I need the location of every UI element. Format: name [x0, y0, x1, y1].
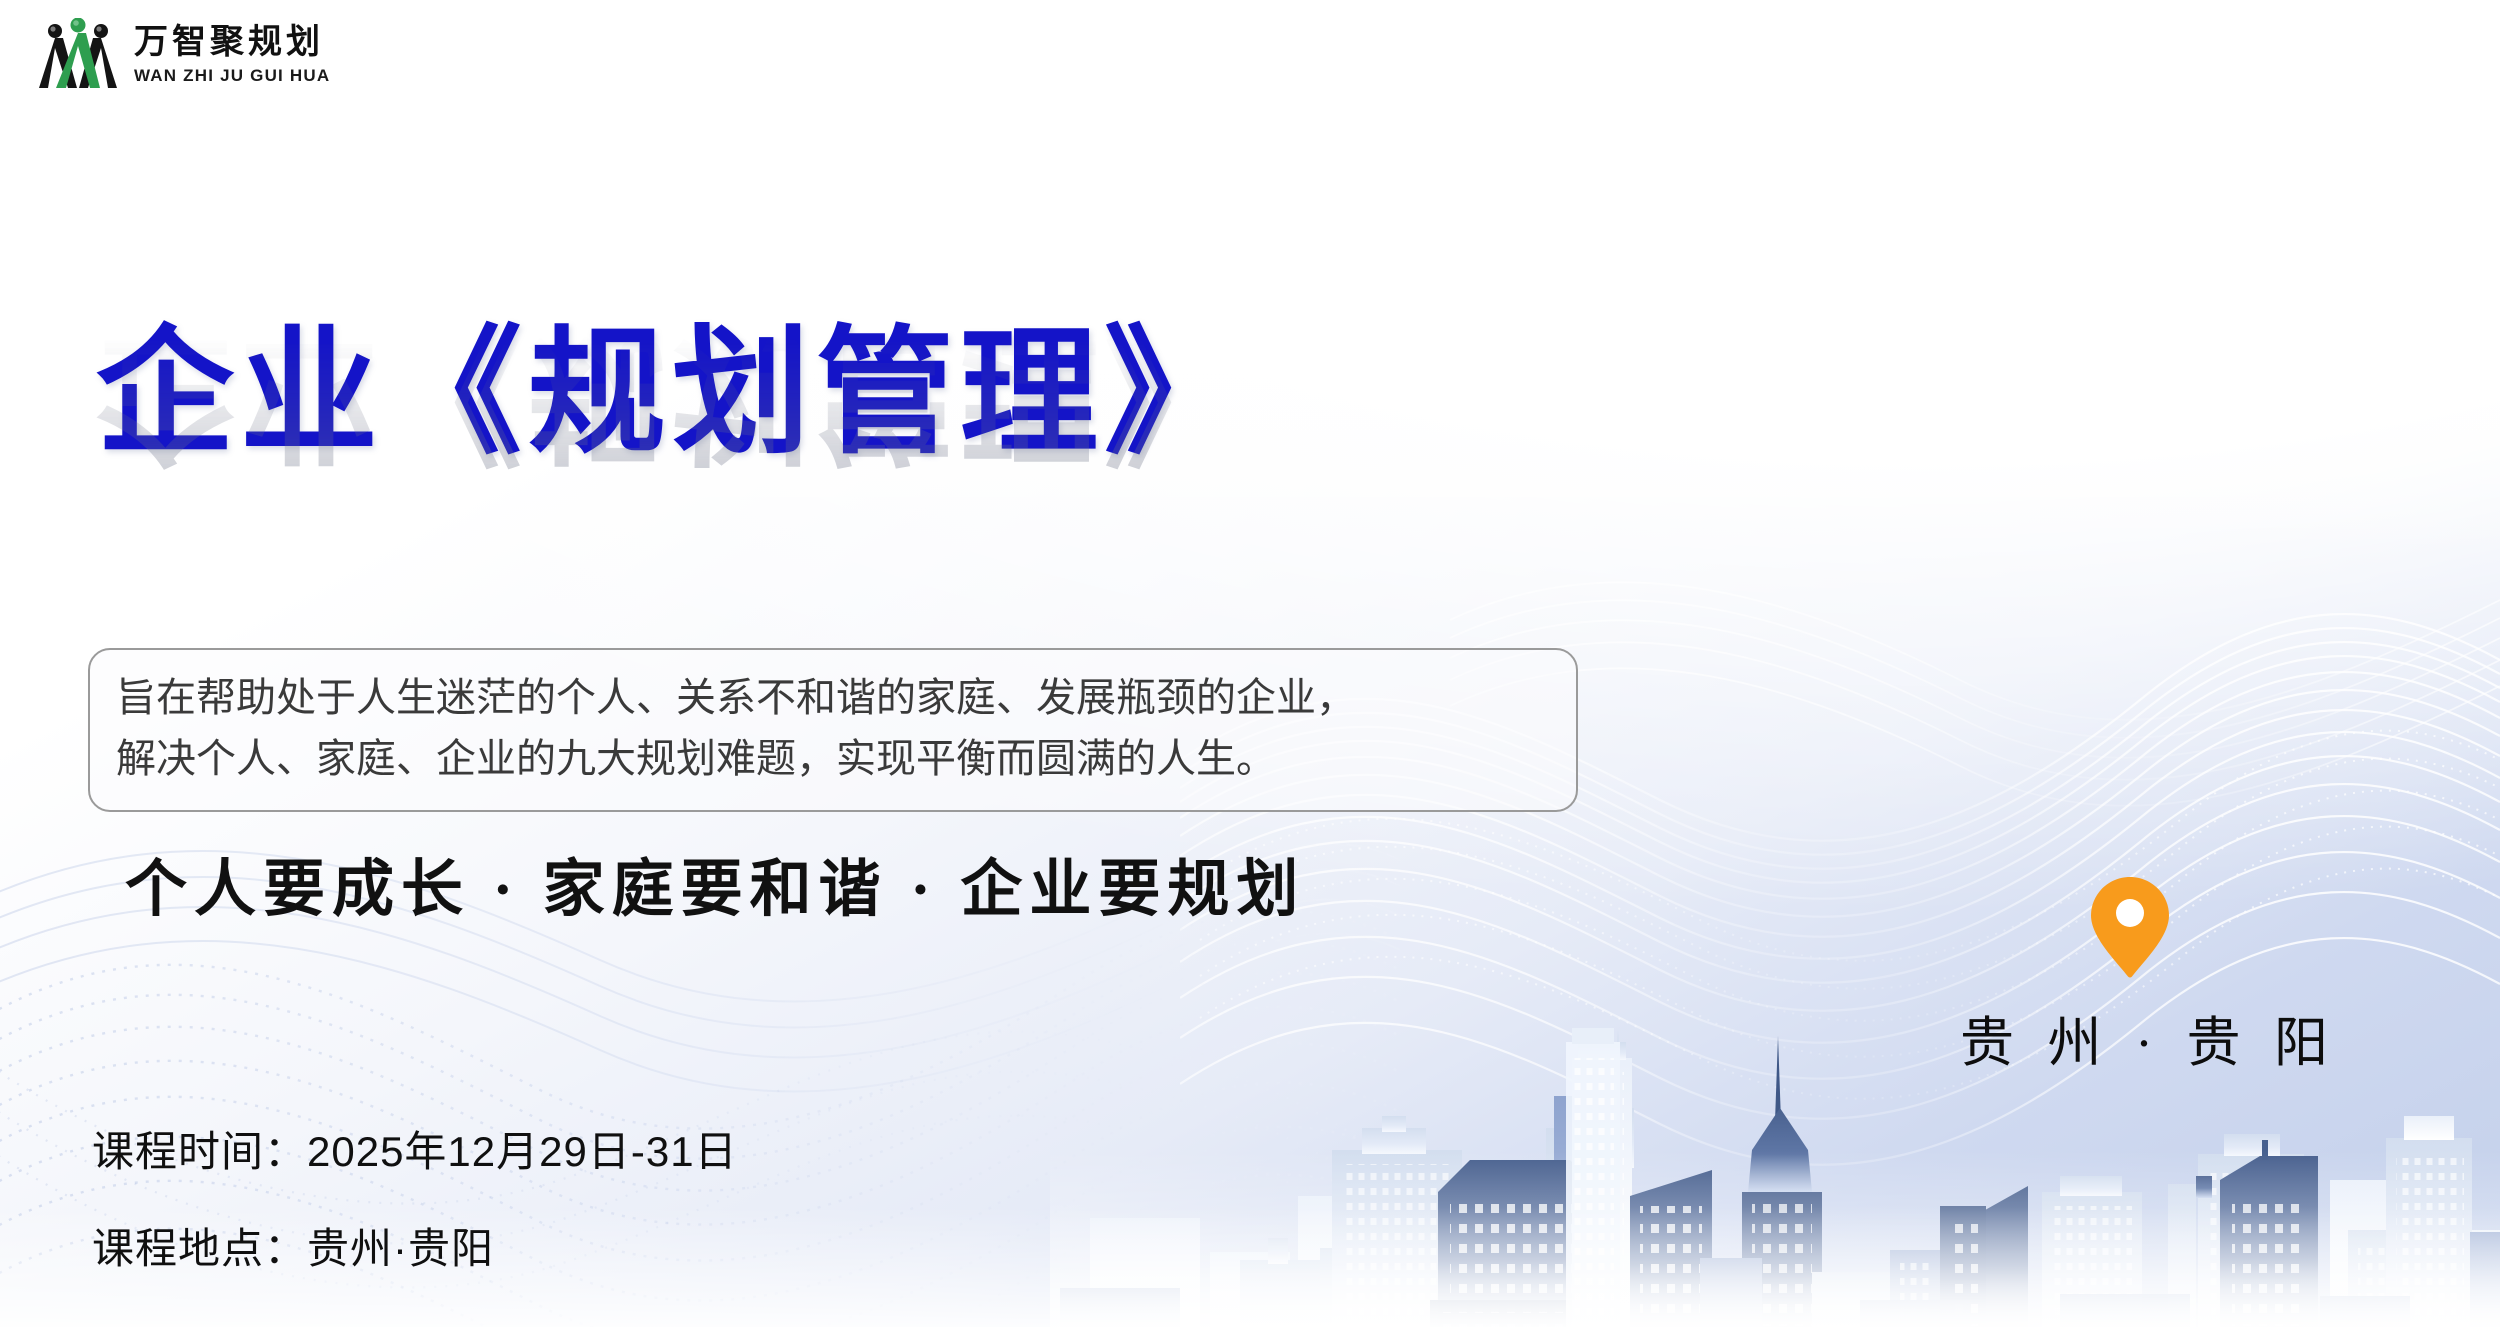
description-line-1: 旨在帮助处于人生迷茫的个人、关系不和谐的家庭、发展瓶颈的企业，: [116, 668, 1550, 729]
brand-logo-text: 万智聚规划 WAN ZHI JU GUI HUA: [134, 26, 330, 84]
course-info-block: 课程时间：2025年12月29日-31日 课程地点：贵州·贵阳: [92, 1118, 738, 1276]
three-people-mountain-logo-icon: [36, 18, 120, 92]
slogan-text: 个人要成长 · 家庭要和谐 · 企业要规划: [125, 838, 1305, 928]
course-time: 课程时间：2025年12月29日-31日: [92, 1118, 738, 1179]
location-block: 贵 州 · 贵 阳: [1960, 875, 2300, 1077]
brand-logo: 万智聚规划 WAN ZHI JU GUI HUA: [36, 18, 330, 92]
description-box: 旨在帮助处于人生迷茫的个人、关系不和谐的家庭、发展瓶颈的企业， 解决个人、家庭、…: [88, 648, 1578, 812]
page-title-reflection: 企业《规划管理》: [96, 324, 1248, 470]
brand-name-cn: 万智聚规划: [134, 26, 330, 60]
map-pin-icon: [2088, 875, 2172, 979]
location-label: 贵 州 · 贵 阳: [1960, 998, 2300, 1077]
poster-title-block: 企业《规划管理》 企业《规划管理》: [96, 320, 1248, 617]
poster-canvas: 万智聚规划 WAN ZHI JU GUI HUA 企业《规划管理》 企业《规划管…: [0, 0, 2500, 1327]
course-place: 课程地点：贵州·贵阳: [92, 1215, 738, 1276]
description-line-2: 解决个人、家庭、企业的九大规划难题，实现平衡而圆满的人生。: [116, 729, 1550, 790]
brand-name-en: WAN ZHI JU GUI HUA: [134, 67, 330, 84]
